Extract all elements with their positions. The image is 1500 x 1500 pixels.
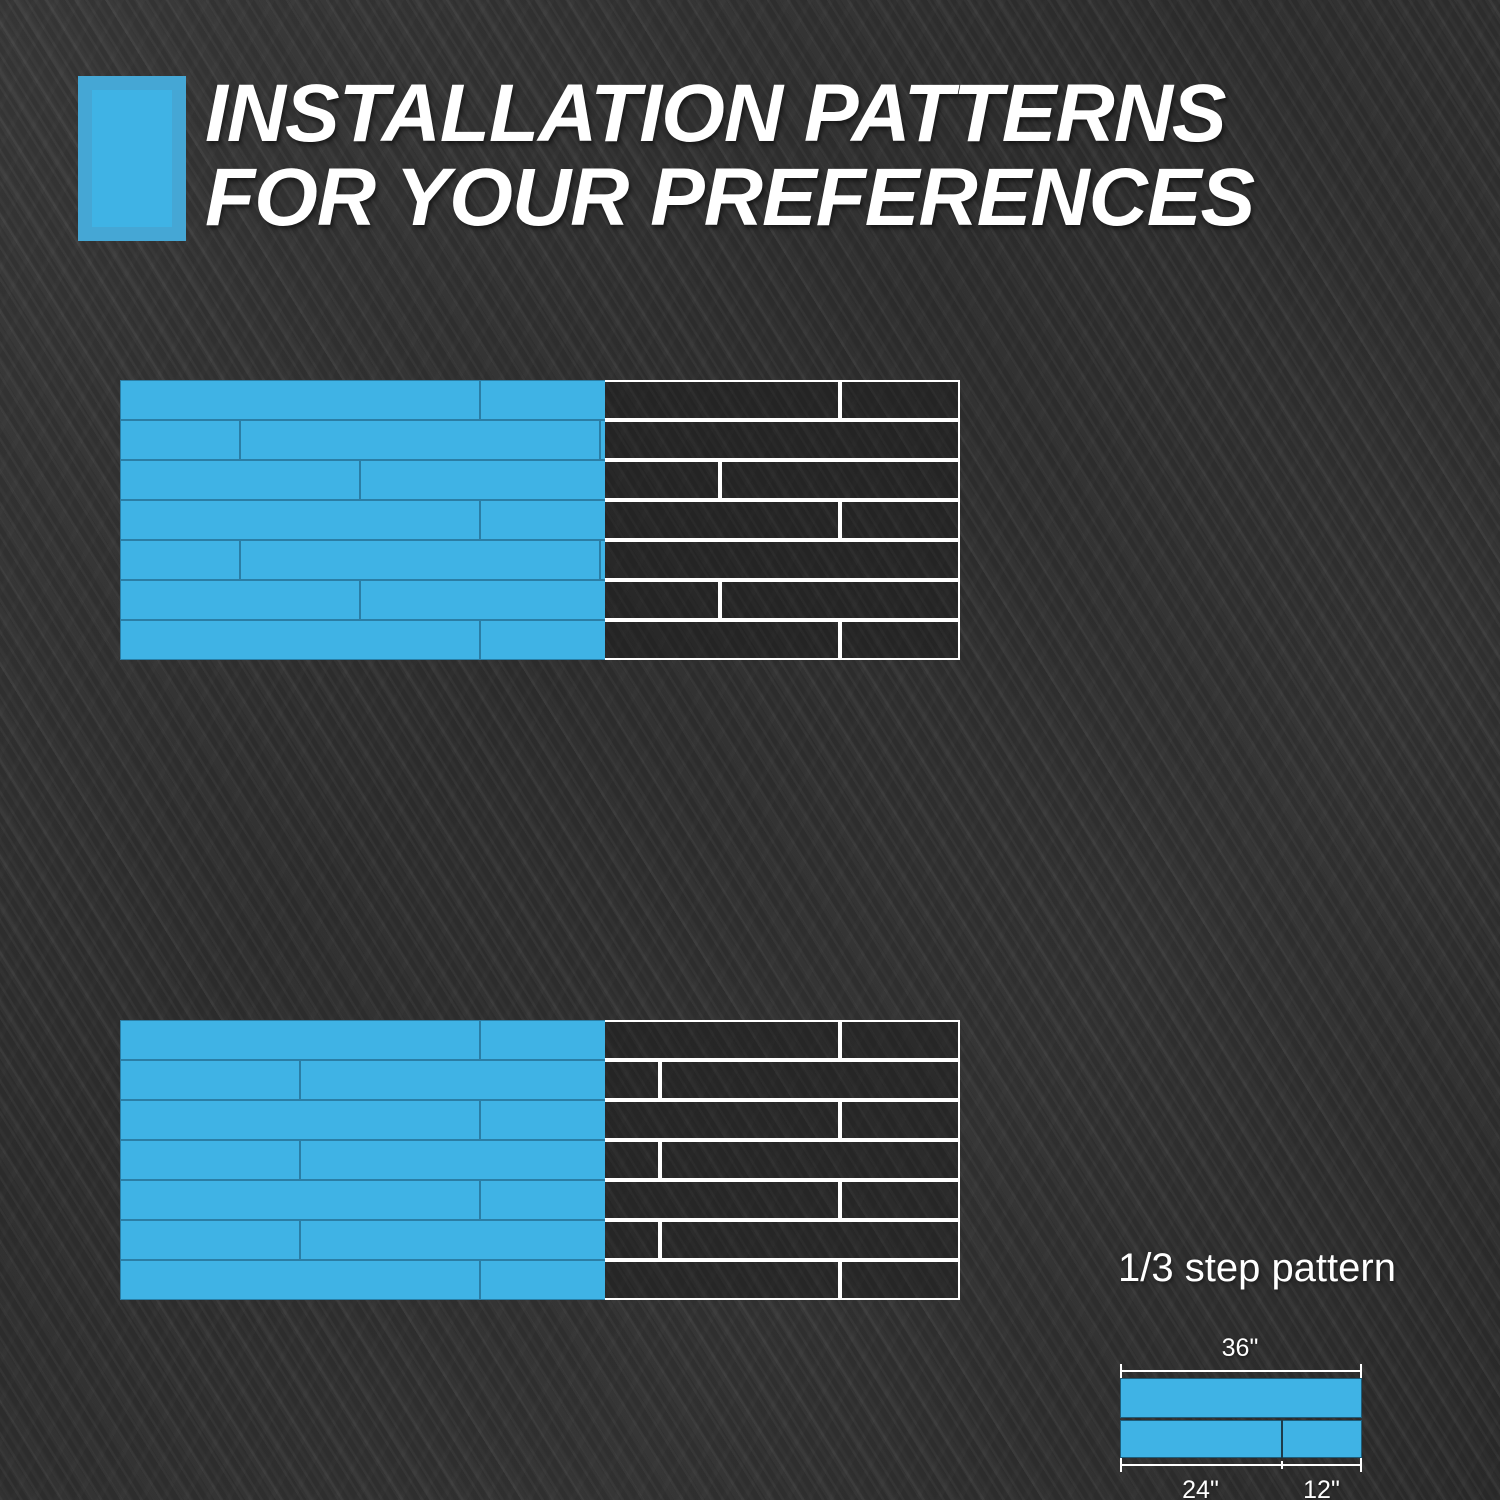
- plank: [480, 620, 605, 660]
- plank: [300, 1060, 605, 1100]
- plank: [660, 1060, 960, 1100]
- plank: [605, 580, 720, 620]
- page-title-line-1: INSTALLATION PATTERNS: [205, 72, 1405, 156]
- plank: [240, 420, 600, 460]
- plank: [360, 460, 605, 500]
- plank: [120, 460, 360, 500]
- plank: [660, 1140, 960, 1180]
- plank: [240, 540, 600, 580]
- dim-label-36-top: 36": [1118, 1334, 1362, 1363]
- plank: [120, 1260, 480, 1300]
- page-title: INSTALLATION PATTERNS FOR YOUR PREFERENC…: [205, 72, 1405, 239]
- dim-label-12: 12": [1281, 1476, 1362, 1500]
- plank: [120, 1020, 480, 1060]
- header: INSTALLATION PATTERNS FOR YOUR PREFERENC…: [0, 0, 1500, 290]
- plank: [120, 420, 240, 460]
- brand-plank-logo-icon: [78, 76, 186, 241]
- offset-pattern-diagram: [120, 1020, 960, 1300]
- plank: [120, 1060, 300, 1100]
- plank: [480, 1100, 605, 1140]
- infographic-canvas: INSTALLATION PATTERNS FOR YOUR PREFERENC…: [0, 0, 1500, 1500]
- plank: [120, 1100, 480, 1140]
- plank: [605, 1180, 840, 1220]
- plank: [660, 1220, 960, 1260]
- plank: [605, 1060, 660, 1100]
- plank: [605, 1140, 660, 1180]
- swatch-full-plank: [1120, 1378, 1362, 1418]
- plank: [840, 1020, 960, 1060]
- plank: [120, 380, 480, 420]
- plank: [605, 380, 840, 420]
- legend-third-step: 1/3 step pattern 36" 24" 12": [1118, 1248, 1448, 1488]
- legend-title-third-step: 1/3 step pattern: [1118, 1248, 1396, 1288]
- plank: [720, 580, 960, 620]
- dimension-line-top: [1120, 1364, 1362, 1378]
- plank: [720, 460, 960, 500]
- plank: [120, 1180, 480, 1220]
- dim-label-24: 24": [1120, 1476, 1281, 1500]
- plank: [360, 580, 605, 620]
- plank: [605, 1260, 840, 1300]
- plank: [605, 420, 960, 460]
- plank: [840, 620, 960, 660]
- plank: [480, 1260, 605, 1300]
- dimension-line-bottom: [1120, 1458, 1362, 1472]
- plank: [300, 1140, 605, 1180]
- plank: [605, 1100, 840, 1140]
- plank: [840, 1260, 960, 1300]
- plank: [120, 580, 360, 620]
- plank: [300, 1220, 605, 1260]
- plank: [840, 1100, 960, 1140]
- plank: [605, 500, 840, 540]
- swatch-split-divider: [1281, 1420, 1283, 1458]
- plank: [605, 1020, 840, 1060]
- plank: [605, 540, 960, 580]
- third-step-pattern-diagram: [120, 380, 960, 660]
- plank: [120, 620, 480, 660]
- plank: [480, 1020, 605, 1060]
- plank: [120, 1140, 300, 1180]
- plank: [120, 540, 240, 580]
- plank: [120, 1220, 300, 1260]
- plank: [840, 380, 960, 420]
- plank: [605, 1220, 660, 1260]
- plank: [120, 500, 480, 540]
- plank: [480, 380, 605, 420]
- plank: [840, 500, 960, 540]
- plank: [605, 460, 720, 500]
- plank: [480, 500, 605, 540]
- page-title-line-2: FOR YOUR PREFERENCES: [205, 156, 1405, 240]
- plank: [480, 1180, 605, 1220]
- plank: [840, 1180, 960, 1220]
- plank: [605, 620, 840, 660]
- swatch-split-plank: [1120, 1420, 1362, 1458]
